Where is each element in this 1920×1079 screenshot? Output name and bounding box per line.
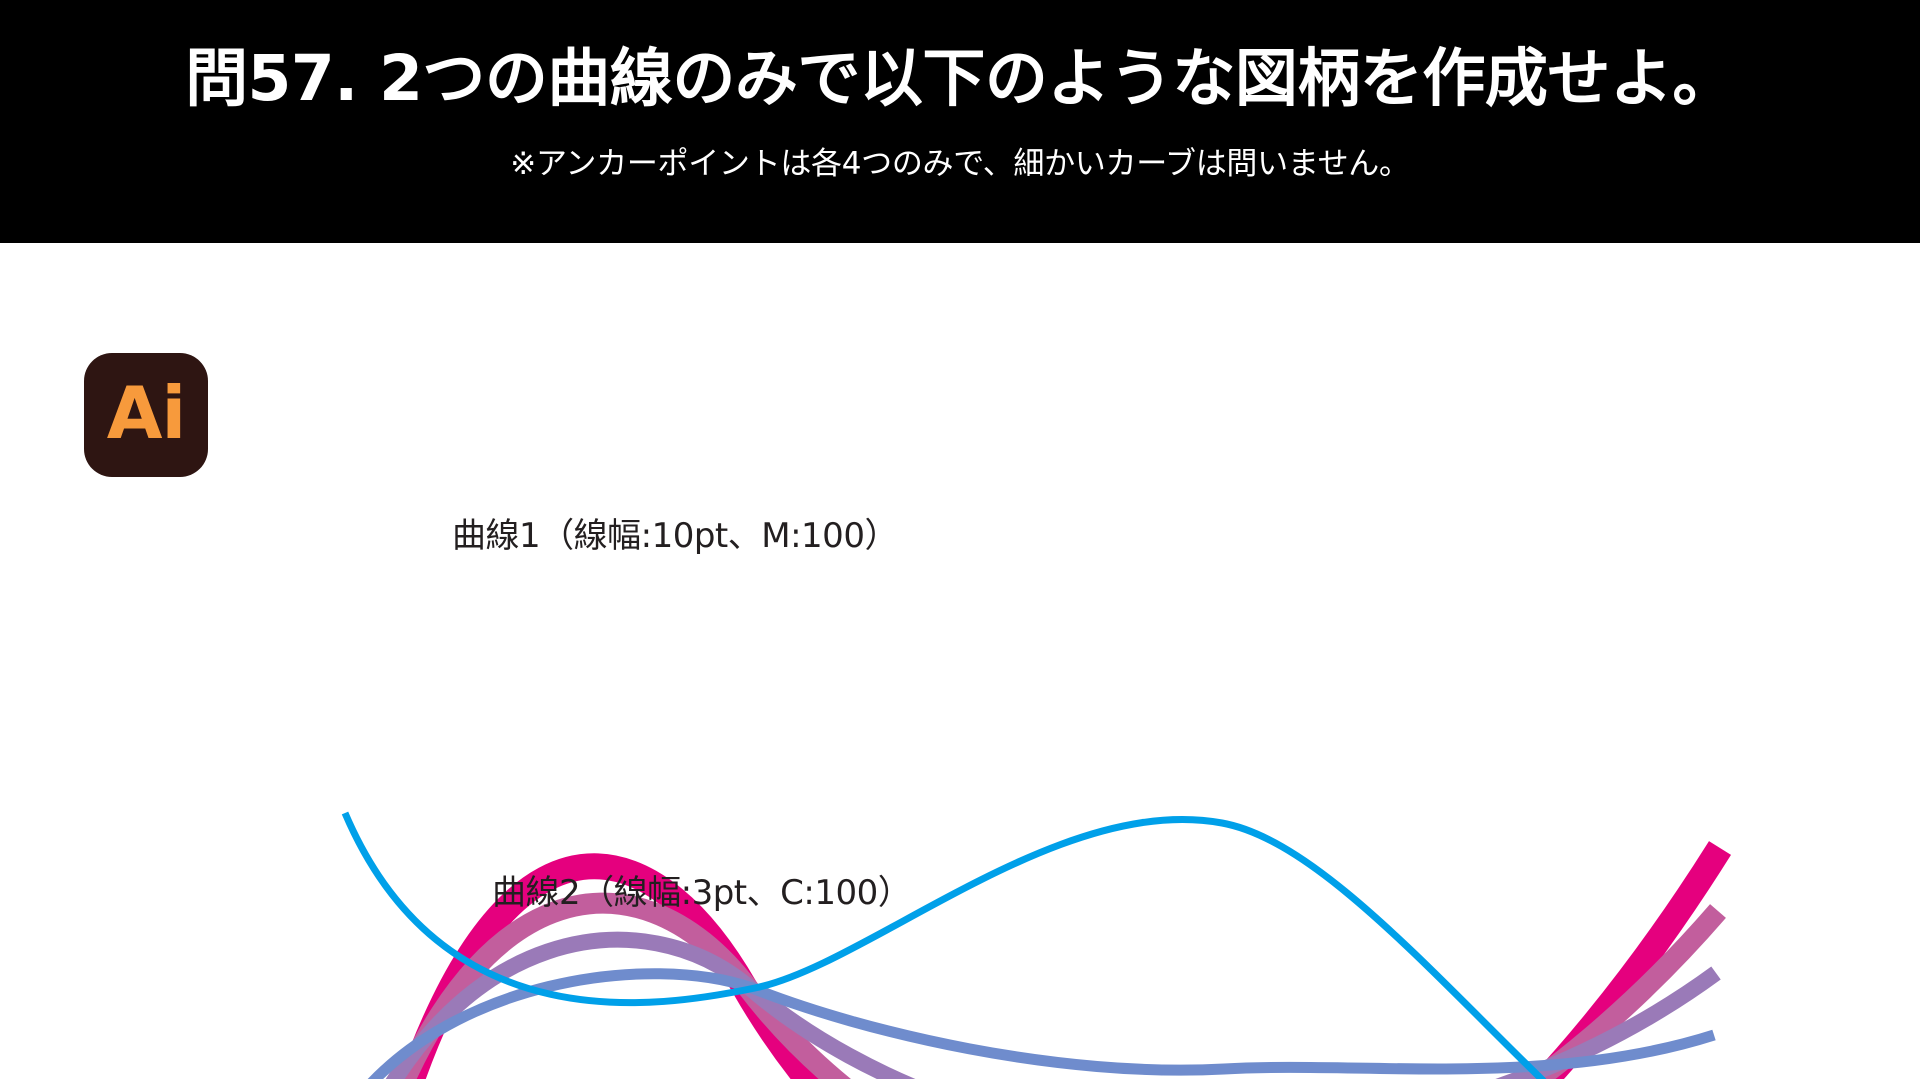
header-band: 問57. 2つの曲線のみで以下のような図柄を作成せよ。 ※アンカーポイントは各4… xyxy=(0,0,1920,243)
curve-artwork xyxy=(0,243,1920,1079)
blend-step-2 xyxy=(355,903,1718,1079)
curve-2-cyan xyxy=(345,813,1712,1079)
blend-step-4 xyxy=(348,974,1714,1079)
adobe-illustrator-icon-label: Ai xyxy=(107,377,185,449)
blend-step-3 xyxy=(350,940,1716,1079)
curve-1-label: 曲線1（線幅:10pt、M:100） xyxy=(452,508,898,557)
canvas-area: Ai 曲線1（線幅:10pt、M:100） 曲線2（線幅:3pt、C:100） xyxy=(0,243,1920,1079)
adobe-illustrator-icon[interactable]: Ai xyxy=(84,353,208,477)
curve-2-label: 曲線2（線幅:3pt、C:100） xyxy=(492,865,911,914)
page-title: 問57. 2つの曲線のみで以下のような図柄を作成せよ。 xyxy=(185,46,1735,112)
page-subtitle: ※アンカーポイントは各4つのみで、細かいカーブは問いません。 xyxy=(510,138,1409,183)
